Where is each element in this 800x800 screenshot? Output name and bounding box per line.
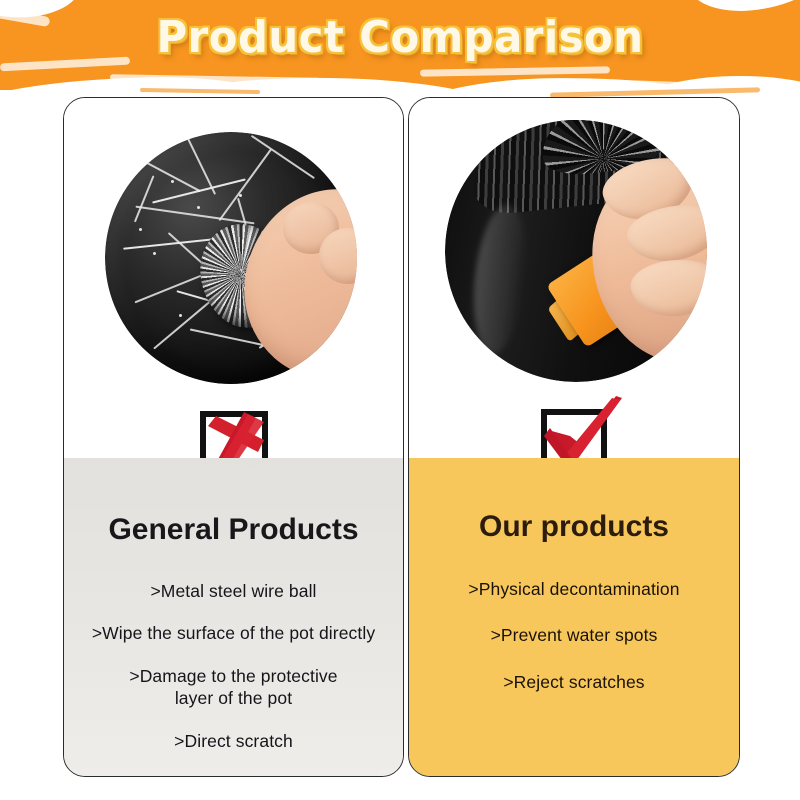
general-products-heading: General Products: [64, 513, 403, 547]
list-item: >Wipe the surface of the pot directly: [74, 622, 393, 644]
page-title: Product Comparison: [20, 12, 780, 63]
general-products-info-panel: General Products >Metal steel wire ball …: [64, 458, 403, 776]
our-products-photo-area: [409, 98, 739, 458]
our-products-bullet-list: >Physical decontamination >Prevent water…: [419, 578, 729, 717]
list-item: >Reject scratches: [419, 671, 729, 693]
list-item: >Physical decontamination: [419, 578, 729, 600]
comparison-card-general-products: General Products >Metal steel wire ball …: [63, 97, 404, 777]
comparison-card-our-products: Our products >Physical decontamination >…: [408, 97, 740, 777]
general-products-photo-area: [64, 98, 403, 458]
brush-streak: [420, 66, 610, 76]
our-products-photo: [445, 120, 707, 382]
general-products-photo: [105, 132, 357, 384]
list-item: >Direct scratch: [74, 730, 393, 752]
list-item: >Metal steel wire ball: [74, 580, 393, 602]
list-item: >Damage to the protective layer of the p…: [74, 665, 393, 710]
our-products-heading: Our products: [409, 510, 739, 544]
our-products-info-panel: Our products >Physical decontamination >…: [409, 458, 739, 776]
header-banner: Product Comparison: [0, 0, 800, 104]
red-x-icon: [186, 400, 282, 458]
red-check-icon: [526, 396, 622, 458]
list-item: >Prevent water spots: [419, 624, 729, 646]
general-products-bullet-list: >Metal steel wire ball >Wipe the surface…: [74, 580, 393, 772]
